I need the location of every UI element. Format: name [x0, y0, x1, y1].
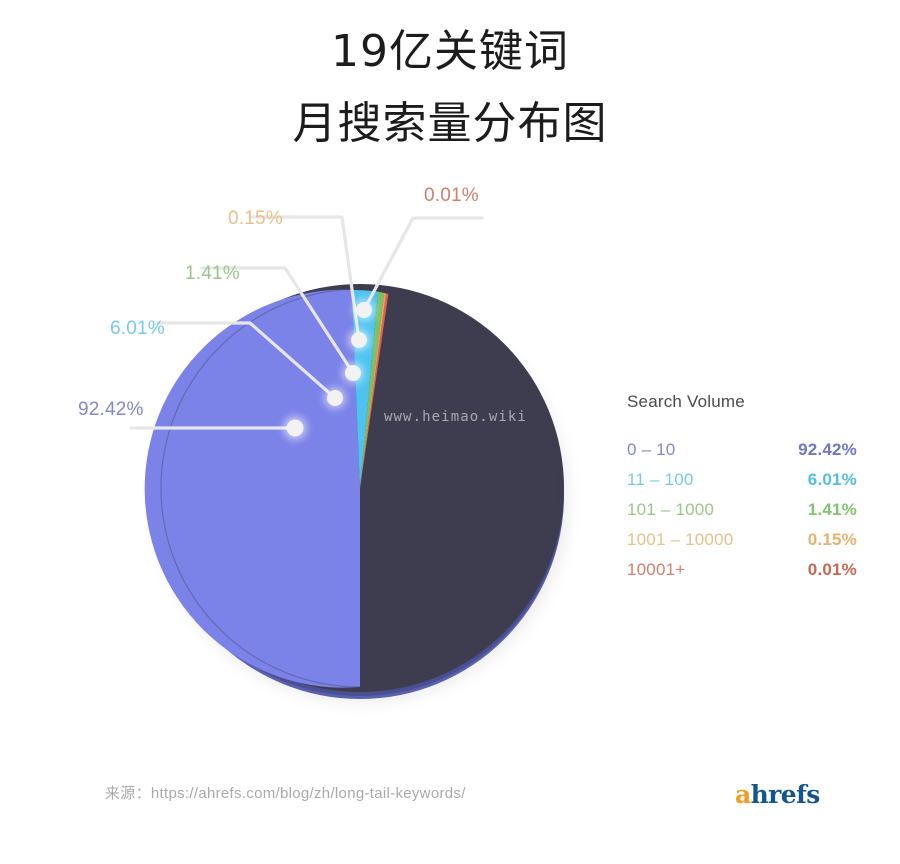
- chart-title: 19亿关键词 月搜索量分布图: [0, 22, 900, 154]
- legend-value-0-10: 92.42%: [798, 440, 857, 460]
- title-line-1: 19亿关键词: [0, 22, 900, 82]
- legend-value-10001-plus: 0.01%: [808, 560, 857, 580]
- chart-canvas: 19亿关键词 月搜索量分布图: [0, 0, 900, 864]
- source-attribution: 来源：https://ahrefs.com/blog/zh/long-tail-…: [105, 782, 466, 803]
- ahrefs-logo-rest: hrefs: [751, 780, 820, 809]
- pie-slice-0-10[interactable]: [145, 290, 360, 688]
- title-line-2: 月搜索量分布图: [0, 94, 900, 154]
- callout-dot-1[interactable]: [327, 390, 343, 406]
- callout-dot-0[interactable]: [287, 420, 304, 437]
- legend-label-1001-10000: 1001 – 10000: [627, 530, 733, 550]
- legend: Search Volume 0 – 10 92.42% 11 – 100 6.0…: [627, 392, 857, 590]
- pie-chart-svg: [130, 170, 600, 730]
- legend-row-11-100[interactable]: 11 – 100 6.01%: [627, 470, 857, 500]
- legend-value-11-100: 6.01%: [808, 470, 857, 490]
- callout-label-11-100: 6.01%: [110, 318, 165, 340]
- callout-dot-4[interactable]: [356, 302, 372, 318]
- legend-row-101-1000[interactable]: 101 – 1000 1.41%: [627, 500, 857, 530]
- callout-label-101-1000: 1.41%: [185, 263, 240, 285]
- legend-row-1001-10000[interactable]: 1001 – 10000 0.15%: [627, 530, 857, 560]
- legend-row-0-10[interactable]: 0 – 10 92.42%: [627, 440, 857, 470]
- callout-dot-3[interactable]: [351, 332, 367, 348]
- pie-chart: [130, 170, 600, 730]
- legend-label-11-100: 11 – 100: [627, 470, 694, 490]
- legend-value-101-1000: 1.41%: [808, 500, 857, 520]
- legend-row-10001-plus[interactable]: 10001+ 0.01%: [627, 560, 857, 590]
- callout-label-1001-10000: 0.15%: [228, 208, 283, 230]
- legend-label-101-1000: 101 – 1000: [627, 500, 714, 520]
- legend-title: Search Volume: [627, 392, 857, 412]
- legend-value-1001-10000: 0.15%: [808, 530, 857, 550]
- legend-label-0-10: 0 – 10: [627, 440, 675, 460]
- ahrefs-logo[interactable]: ahrefs: [735, 780, 820, 809]
- callout-label-10001-plus: 0.01%: [424, 185, 479, 207]
- pie-slices: [145, 290, 389, 688]
- ahrefs-logo-a: a: [735, 780, 751, 809]
- legend-label-10001-plus: 10001+: [627, 560, 685, 580]
- callout-label-0-10: 92.42%: [78, 399, 144, 421]
- callout-dot-2[interactable]: [345, 365, 361, 381]
